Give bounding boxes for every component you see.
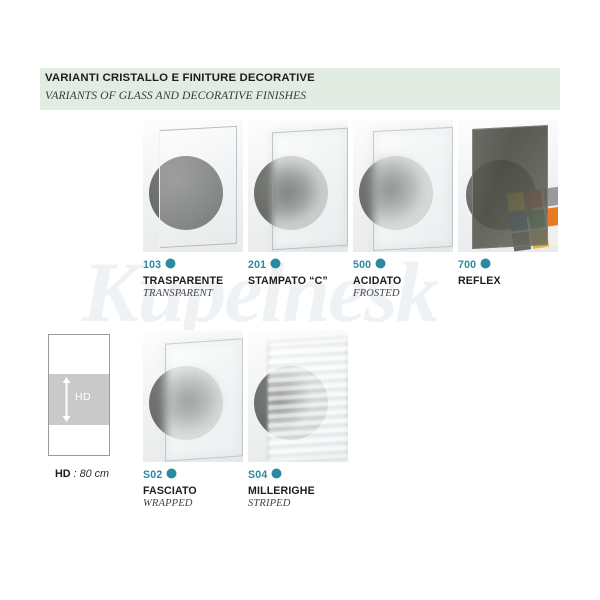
sample-name-it: REFLEX [458,275,570,287]
sample-code-row: 700 [458,258,570,272]
hd-dimension-diagram: HD [48,334,110,456]
sample-name-it: MILLERIGHE [248,485,360,497]
sample-name-en: TRANSPARENT [143,288,255,299]
sample-image-500[interactable] [353,120,453,252]
glass-disc-icon [375,256,386,274]
sample-code-row: 500 [353,258,465,272]
glass-disc-icon [166,466,177,484]
page-subtitle: VARIANTS OF GLASS AND DECORATIVE FINISHE… [45,89,306,102]
sample-label-S02: S02 FASCIATO WRAPPED [143,468,255,509]
sample-image-103[interactable] [143,120,243,252]
sample-code: 500 [353,259,371,271]
sample-code: 201 [248,259,266,271]
sample-image-S04[interactable] [248,330,348,462]
sample-code-row: 103 [143,258,255,272]
glass-pane-edge [165,338,243,461]
sample-label-500: 500 ACIDATO FROSTED [353,258,465,299]
sample-image-S02[interactable] [143,330,243,462]
glass-pane-edge [272,128,348,251]
sample-image-700[interactable] [458,120,558,252]
hd-caption-value: : 80 cm [74,468,109,480]
glass-disc-icon [271,466,282,484]
sample-code-row: S04 [248,468,360,482]
glass-disc-icon [480,256,491,274]
sample-label-S04: S04 MILLERIGHE STRIPED [248,468,360,509]
sample-label-700: 700 REFLEX [458,258,570,288]
sample-code: S04 [248,469,267,481]
sample-code-row: 201 [248,258,360,272]
sample-label-201: 201 STAMPATO “C” [248,258,360,288]
sample-name-en: FROSTED [353,288,465,299]
hd-caption-key: HD [55,468,71,480]
sample-code-row: S02 [143,468,255,482]
glass-stripe-pattern [268,338,348,462]
sample-code: S02 [143,469,162,481]
sample-name-it: FASCIATO [143,485,255,497]
hd-caption: HD : 80 cm [55,468,109,480]
hd-band-label: HD [75,391,91,403]
sample-name-it: STAMPATO “C” [248,275,360,287]
sample-name-it: ACIDATO [353,275,465,287]
glass-pane-reflection [472,125,548,249]
sample-name-en: WRAPPED [143,498,255,509]
glass-disc-icon [165,256,176,274]
sample-image-201[interactable] [248,120,348,252]
sample-name-en: STRIPED [248,498,360,509]
section-header-band: VARIANTI CRISTALLO E FINITURE DECORATIVE… [40,68,560,110]
sample-label-103: 103 TRASPARENTE TRANSPARENT [143,258,255,299]
color-checker-swatch [549,226,558,246]
sample-code: 103 [143,259,161,271]
hd-double-arrow-icon [62,377,71,422]
sample-code: 700 [458,259,476,271]
sample-name-it: TRASPARENTE [143,275,255,287]
glass-disc-icon [270,256,281,274]
page-title: VARIANTI CRISTALLO E FINITURE DECORATIVE [45,72,315,84]
glass-pane-edge [159,126,237,248]
glass-pane-edge [373,127,453,251]
